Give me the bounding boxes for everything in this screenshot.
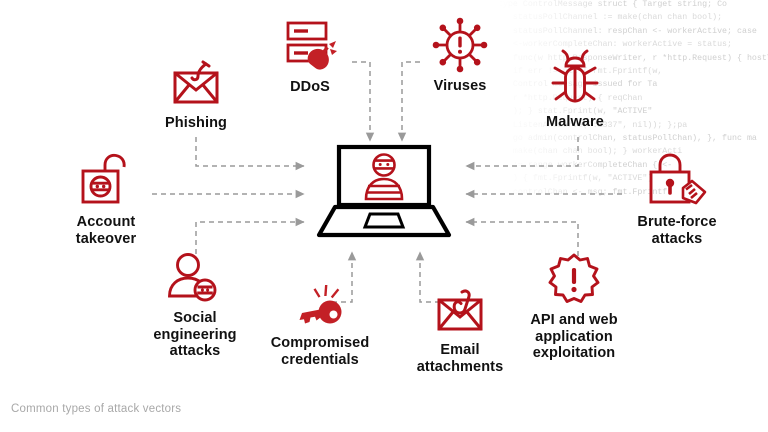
envelope-hook-icon — [168, 55, 224, 111]
virus-alert-icon — [431, 16, 489, 74]
open-padlock-burglar-icon — [77, 152, 135, 210]
diagram-canvas: type ControlMessage struct { Target stri… — [0, 0, 768, 432]
diagram-caption: Common types of attack vectors — [11, 403, 181, 415]
warning-badge-icon — [546, 252, 602, 308]
envelope-paperclip-icon — [432, 288, 488, 338]
node-label: Account takeover — [76, 214, 136, 247]
node-label: Malware — [546, 114, 604, 131]
node-account-takeover[interactable]: Account takeover — [54, 152, 158, 247]
node-label: Email attachments — [417, 342, 504, 375]
node-viruses[interactable]: Viruses — [415, 16, 505, 95]
broken-key-icon — [289, 283, 351, 331]
node-label: Phishing — [165, 115, 227, 132]
padlock-fist-icon — [646, 152, 708, 210]
node-api-web-exploitation[interactable]: API and web application exploitation — [518, 252, 630, 362]
arrow-phishing-to-center — [196, 137, 304, 166]
node-label: Brute-force attacks — [637, 214, 716, 247]
node-label: DDoS — [290, 79, 330, 96]
node-label: Viruses — [434, 78, 487, 95]
node-brute-force[interactable]: Brute-force attacks — [622, 152, 732, 247]
bug-icon — [545, 48, 605, 110]
node-email-attachments[interactable]: Email attachments — [405, 288, 515, 375]
node-malware[interactable]: Malware — [530, 48, 620, 131]
arrow-api-web-to-center — [466, 222, 578, 256]
node-social-engineering[interactable]: Social engineering attacks — [143, 252, 247, 360]
node-label: Social engineering attacks — [153, 310, 236, 360]
node-ddos[interactable]: DDoS — [265, 15, 355, 96]
person-burglar-icon — [166, 252, 224, 306]
node-compromised-credentials[interactable]: Compromised credentials — [258, 283, 382, 368]
node-phishing[interactable]: Phishing — [149, 55, 243, 132]
center-node-laptop — [316, 143, 452, 248]
node-label: API and web application exploitation — [530, 312, 617, 362]
laptop-hacker-icon — [316, 143, 452, 243]
arrow-malware-to-center — [466, 137, 578, 166]
server-bomb-icon — [280, 15, 340, 75]
node-label: Compromised credentials — [271, 335, 370, 368]
arrow-social-engineering-to-center — [196, 222, 304, 254]
